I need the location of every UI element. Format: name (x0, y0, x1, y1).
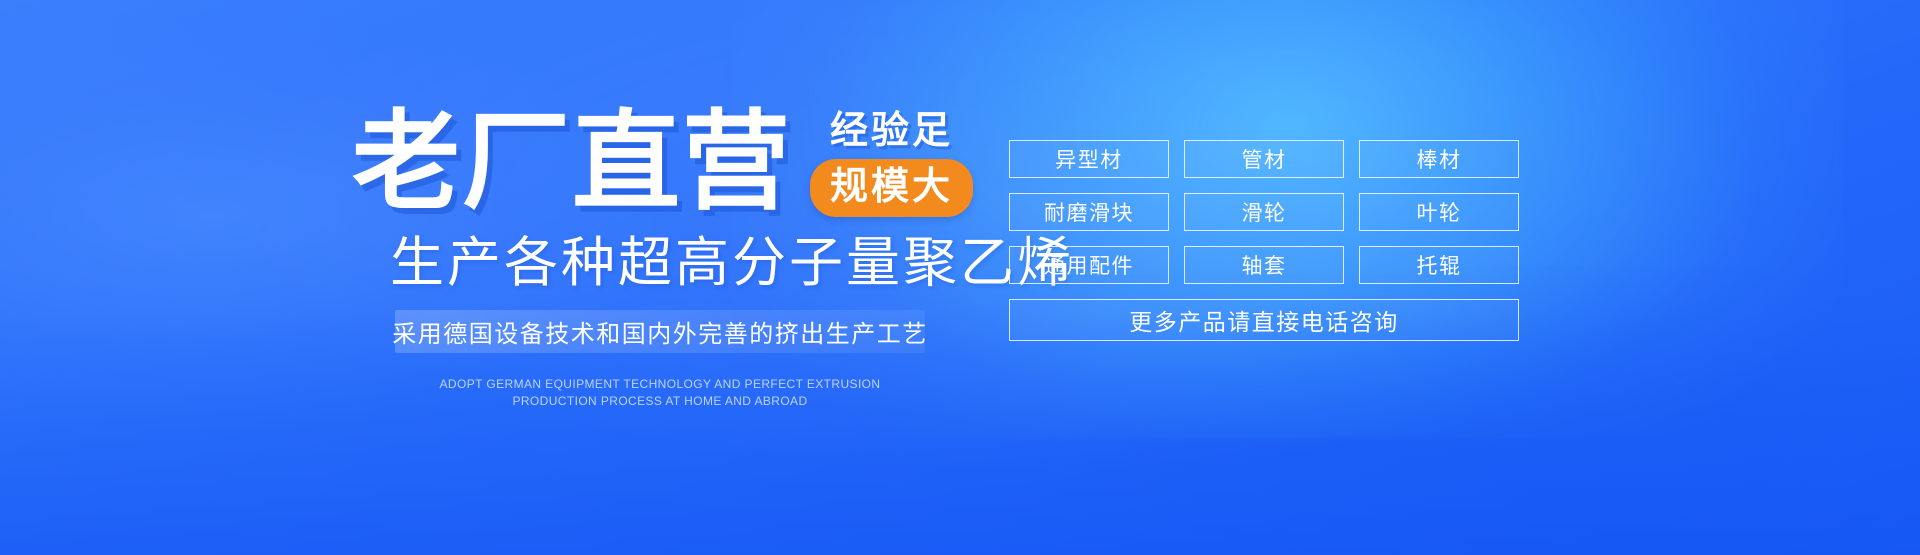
english-tagline-line-2: PRODUCTION PROCESS AT HOME AND ABROAD (395, 393, 925, 410)
category-button-tongyongpeijian[interactable]: 通用配件 (1009, 246, 1169, 284)
promo-banner: 老厂直营 经验足 规模大 生产各种超高分子量聚乙烯 采用德国设备技术和国内外完善… (0, 0, 1920, 555)
headline-row: 老厂直营 经验足 规模大 (352, 108, 973, 217)
tagline-ribbon: 采用德国设备技术和国内外完善的挤出生产工艺 (395, 310, 925, 353)
category-button-bangcai[interactable]: 棒材 (1359, 140, 1519, 178)
contact-cta-button[interactable]: 更多产品请直接电话咨询 (1009, 299, 1519, 341)
badge-experience: 经验足 (830, 112, 953, 150)
badge-scale: 规模大 (810, 159, 973, 217)
tagline-text: 采用德国设备技术和国内外完善的挤出生产工艺 (392, 314, 928, 349)
category-button-yelun[interactable]: 叶轮 (1359, 193, 1519, 231)
headline-title: 老厂直营 (352, 108, 792, 216)
product-category-row-3: 通用配件 轴套 托辊 (1009, 246, 1519, 284)
product-category-grid: 异型材 管材 棒材 耐磨滑块 滑轮 叶轮 通用配件 轴套 托辊 更多产品请直接电… (1009, 140, 1519, 341)
english-tagline-line-1: ADOPT GERMAN EQUIPMENT TECHNOLOGY AND PE… (395, 376, 925, 393)
category-button-zhoutao[interactable]: 轴套 (1184, 246, 1344, 284)
product-category-row-2: 耐磨滑块 滑轮 叶轮 (1009, 193, 1519, 231)
banner-content: 老厂直营 经验足 规模大 生产各种超高分子量聚乙烯 采用德国设备技术和国内外完善… (0, 0, 1920, 555)
headline-badges: 经验足 规模大 (810, 112, 973, 217)
sub-headline: 生产各种超高分子量聚乙烯 (390, 236, 1074, 290)
category-button-hualun[interactable]: 滑轮 (1184, 193, 1344, 231)
category-button-tuogun[interactable]: 托辊 (1359, 246, 1519, 284)
category-button-naimohuakuai[interactable]: 耐磨滑块 (1009, 193, 1169, 231)
category-button-guancai[interactable]: 管材 (1184, 140, 1344, 178)
product-category-row-1: 异型材 管材 棒材 (1009, 140, 1519, 178)
category-button-yixingcai[interactable]: 异型材 (1009, 140, 1169, 178)
product-category-row-4: 更多产品请直接电话咨询 (1009, 299, 1519, 341)
english-tagline: ADOPT GERMAN EQUIPMENT TECHNOLOGY AND PE… (395, 376, 925, 410)
banner-left-block: 老厂直营 经验足 规模大 生产各种超高分子量聚乙烯 采用德国设备技术和国内外完善… (0, 0, 990, 555)
